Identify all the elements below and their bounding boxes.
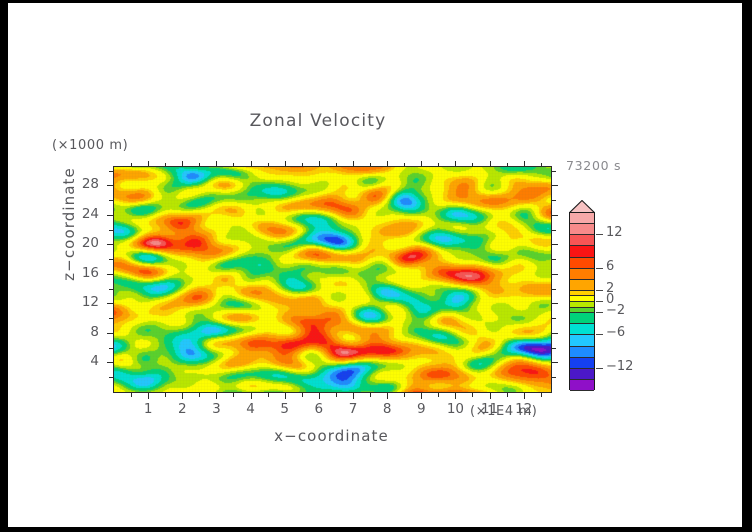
x-tick-label: 3 [201, 401, 231, 417]
x-tick-major-top [387, 161, 388, 167]
x-tick-minor-top [233, 163, 234, 167]
colorbar-band [570, 280, 594, 291]
x-tick-minor-top [131, 163, 132, 167]
x-tick-major [387, 393, 388, 399]
y-tick-major-right [552, 274, 558, 275]
x-tick-major-top [148, 161, 149, 167]
x-tick-minor [336, 393, 337, 397]
y-tick-major [107, 362, 113, 363]
x-tick-major [319, 393, 320, 399]
timestamp-label: 73200 s [566, 158, 621, 173]
y-tick-minor [109, 200, 113, 201]
x-tick-major [216, 393, 217, 399]
y-tick-minor [109, 348, 113, 349]
y-tick-major [107, 215, 113, 216]
x-tick-minor [199, 393, 200, 397]
colorbar-band [570, 380, 594, 391]
x-tick-major-top [319, 161, 320, 167]
x-tick-minor-top [336, 163, 337, 167]
y-tick-minor [109, 377, 113, 378]
y-tick-minor-right [552, 230, 556, 231]
x-tick-label: 9 [406, 401, 436, 417]
x-tick-minor-top [370, 163, 371, 167]
x-tick-minor-top [541, 163, 542, 167]
x-tick-label: 7 [338, 401, 368, 417]
colorbar-band [570, 313, 594, 324]
y-tick-minor-right [552, 377, 556, 378]
x-tick-major [490, 393, 491, 399]
x-tick-major-top [490, 161, 491, 167]
y-tick-major-right [552, 185, 558, 186]
colorbar-band [570, 224, 594, 235]
x-tick-major-top [421, 161, 422, 167]
figure-canvas: Zonal Velocity (×1000 m) 73200 s 1234567… [8, 3, 742, 527]
colorbar-tick [596, 234, 603, 235]
colorbar-tick [596, 334, 603, 335]
x-tick-major-top [353, 161, 354, 167]
y-tick-major [107, 274, 113, 275]
colorbar-tick [596, 290, 603, 291]
x-tick-major [148, 393, 149, 399]
colorbar-band [570, 369, 594, 380]
x-tick-label: 8 [372, 401, 402, 417]
x-tick-major-top [251, 161, 252, 167]
x-tick-minor [404, 393, 405, 397]
y-tick-minor [109, 230, 113, 231]
x-tick-major [421, 393, 422, 399]
y-tick-minor [109, 318, 113, 319]
x-tick-major [251, 393, 252, 399]
x-tick-minor-top [507, 163, 508, 167]
colorbar-band [570, 358, 594, 369]
x-tick-minor [472, 393, 473, 397]
x-tick-major-top [216, 161, 217, 167]
y-tick-major-right [552, 244, 558, 245]
x-tick-major [182, 393, 183, 399]
x-tick-major-top [182, 161, 183, 167]
x-tick-major [524, 393, 525, 399]
x-tick-minor [233, 393, 234, 397]
x-tick-label: 4 [236, 401, 266, 417]
x-tick-minor [131, 393, 132, 397]
y-tick-major-right [552, 362, 558, 363]
x-tick-minor-top [302, 163, 303, 167]
y-tick-minor-right [552, 348, 556, 349]
x-tick-minor [302, 393, 303, 397]
y-tick-major-right [552, 303, 558, 304]
x-tick-minor [438, 393, 439, 397]
colorbar-band [570, 335, 594, 346]
colorbar-band [570, 347, 594, 358]
y-tick-label: 12 [69, 294, 99, 310]
y-tick-major [107, 333, 113, 334]
x-tick-label: 1 [133, 401, 163, 417]
x-tick-label: 10 [440, 401, 470, 417]
y-tick-major [107, 303, 113, 304]
y-tick-minor-right [552, 289, 556, 290]
colorbar-tick-label: −6 [606, 325, 625, 340]
y-tick-major [107, 244, 113, 245]
y-tick-minor-right [552, 200, 556, 201]
x-tick-major-top [285, 161, 286, 167]
x-tick-label: 5 [270, 401, 300, 417]
x-tick-label: 2 [167, 401, 197, 417]
x-tick-minor-top [165, 163, 166, 167]
colorbar-tick-label: −12 [606, 359, 633, 374]
heatmap-plot-area [113, 166, 552, 393]
y-tick-minor [109, 259, 113, 260]
z-axis-units-label: (×1000 m) [52, 138, 128, 153]
x-tick-major [353, 393, 354, 399]
x-tick-minor-top [472, 163, 473, 167]
x-axis-title: x−coordinate [113, 427, 550, 445]
x-tick-minor-top [199, 163, 200, 167]
y-tick-major-right [552, 215, 558, 216]
colorbar-bands [569, 212, 595, 390]
y-tick-minor-right [552, 318, 556, 319]
x-tick-minor [370, 393, 371, 397]
colorbar-tick [596, 312, 603, 313]
x-tick-major-top [524, 161, 525, 167]
colorbar-tick-label: −2 [606, 303, 625, 318]
y-tick-major [107, 185, 113, 186]
y-tick-minor [109, 289, 113, 290]
colorbar-tick [596, 368, 603, 369]
y-tick-minor-right [552, 171, 556, 172]
y-tick-minor-right [552, 259, 556, 260]
x-tick-minor [165, 393, 166, 397]
x-tick-major [285, 393, 286, 399]
y-tick-major-right [552, 333, 558, 334]
page-title: Zonal Velocity [8, 111, 628, 131]
y-tick-minor [109, 171, 113, 172]
x-axis-units-label: (×1E4 m) [470, 404, 537, 419]
colorbar-band [570, 246, 594, 257]
colorbar-band [570, 235, 594, 246]
x-tick-major-top [455, 161, 456, 167]
colorbar-band [570, 269, 594, 280]
x-tick-minor-top [404, 163, 405, 167]
colorbar: 12620−2−6−12 [569, 200, 595, 390]
velocity-field-canvas [114, 167, 551, 392]
x-tick-minor [541, 393, 542, 397]
colorbar-tick-label: 12 [606, 225, 623, 240]
colorbar-tick [596, 301, 603, 302]
x-tick-label: 6 [304, 401, 334, 417]
y-tick-label: 4 [69, 353, 99, 369]
colorbar-band [570, 324, 594, 335]
x-tick-minor-top [268, 163, 269, 167]
x-tick-minor [268, 393, 269, 397]
y-axis-title: z−coordinate [60, 159, 78, 289]
x-tick-minor-top [438, 163, 439, 167]
colorbar-tick-label: 6 [606, 259, 614, 274]
colorbar-tick [596, 268, 603, 269]
x-tick-minor [507, 393, 508, 397]
colorbar-band [570, 213, 594, 224]
y-tick-label: 8 [69, 324, 99, 340]
colorbar-band [570, 258, 594, 269]
x-tick-major [455, 393, 456, 399]
